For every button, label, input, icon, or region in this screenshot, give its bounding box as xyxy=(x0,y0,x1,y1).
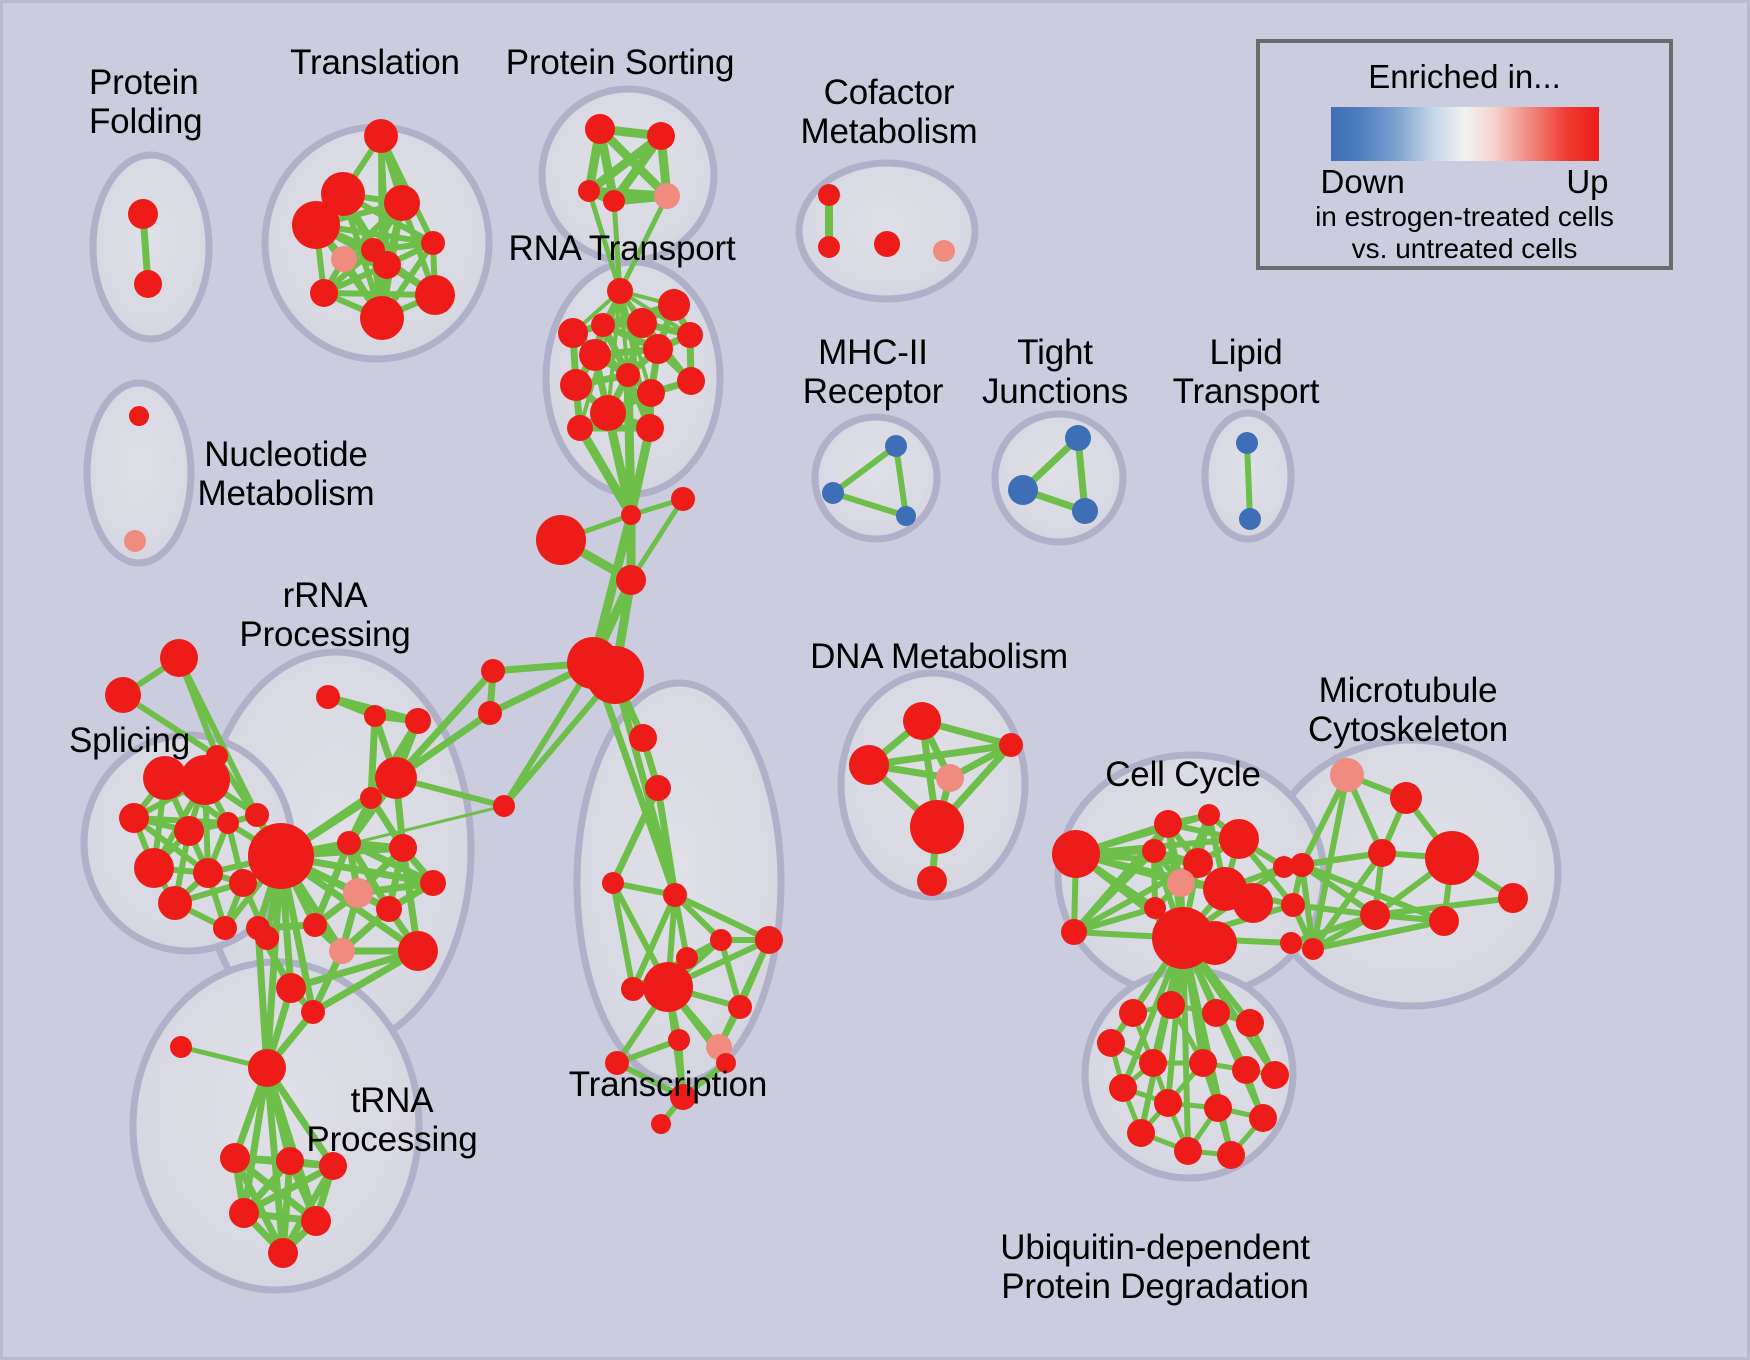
cluster-label-protein-folding: Protein Folding xyxy=(89,63,202,141)
enrichment-map-figure: Protein Folding Translation Protein Sort… xyxy=(0,0,1750,1360)
cluster-label-protein-sorting: Protein Sorting xyxy=(506,43,735,82)
cluster-label-translation: Translation xyxy=(290,43,460,82)
cluster-label-rrna-processing: rRNA Processing xyxy=(239,576,410,654)
hull-mhc-ii xyxy=(815,417,937,539)
legend-caption-line-1: in estrogen-treated cells xyxy=(1315,201,1614,234)
legend: Enriched in... Down Up in estrogen-treat… xyxy=(1256,39,1673,270)
cluster-label-dna-metabolism: DNA Metabolism xyxy=(810,637,1068,676)
legend-endpoint-labels: Down Up xyxy=(1315,163,1615,201)
hull-protein-folding xyxy=(93,155,209,339)
cluster-label-trna-processing: tRNA Processing xyxy=(306,1081,477,1159)
cluster-label-tight-junctions: Tight Junctions xyxy=(982,333,1128,411)
cluster-label-mhc-ii-receptor: MHC-II Receptor xyxy=(803,333,943,411)
cluster-label-ubiquitin-degradation: Ubiquitin-dependent Protein Degradation xyxy=(1000,1228,1310,1306)
cluster-label-nucleotide-metabolism: Nucleotide Metabolism xyxy=(198,435,375,513)
cluster-label-rna-transport: RNA Transport xyxy=(509,229,736,268)
legend-low-label: Down xyxy=(1321,163,1405,201)
cluster-label-lipid-transport: Lipid Transport xyxy=(1173,333,1320,411)
cluster-label-splicing: Splicing xyxy=(69,721,190,760)
legend-caption-line-2: vs. untreated cells xyxy=(1352,233,1578,266)
cluster-label-cell-cycle: Cell Cycle xyxy=(1105,755,1261,794)
legend-high-label: Up xyxy=(1566,163,1608,201)
legend-color-gradient-bar xyxy=(1331,107,1599,161)
cluster-label-transcription: Transcription xyxy=(569,1065,767,1104)
legend-title: Enriched in... xyxy=(1368,58,1561,96)
cluster-label-cofactor-metabolism: Cofactor Metabolism xyxy=(801,73,978,151)
cluster-label-microtubule-cytoskeleton: Microtubule Cytoskeleton xyxy=(1308,671,1508,749)
